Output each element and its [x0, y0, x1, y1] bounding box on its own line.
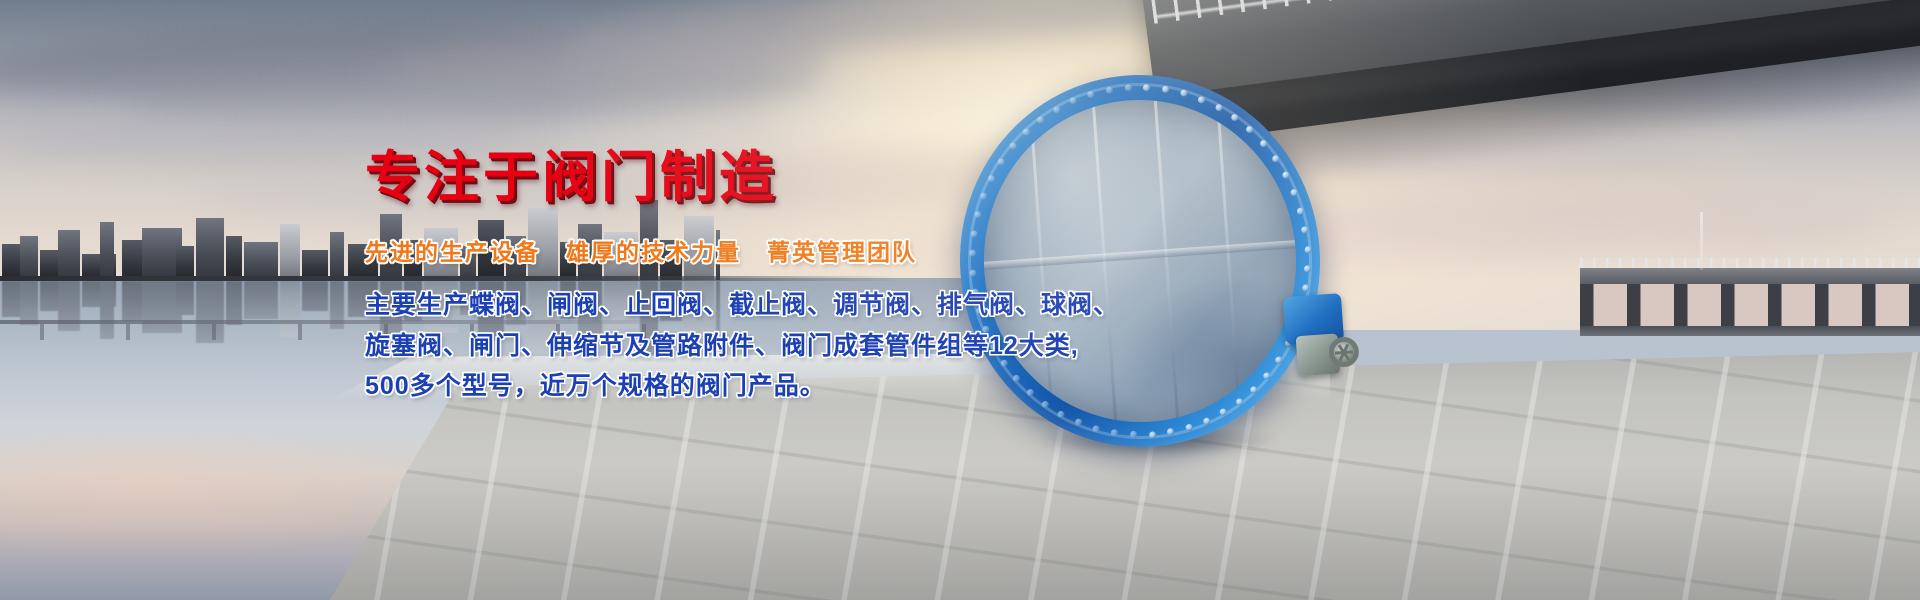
- promotional-banner: 专注于阀门制造 先进的生产设备雄厚的技术力量菁英管理团队 主要生产蝶阀、闸阀、止…: [0, 0, 1920, 600]
- building: [196, 281, 224, 343]
- building: [244, 281, 278, 319]
- building: [20, 281, 38, 325]
- building: [196, 218, 224, 280]
- body-line-2: 旋塞阀、闸门、伸缩节及管路附件、阀门成套管件组等12大类,: [365, 326, 1085, 367]
- body-line-3: 500多个型号，近万个规格的阀门产品。: [365, 366, 1085, 407]
- valve-bolt-hole: [1092, 425, 1099, 432]
- building: [330, 232, 344, 280]
- bridge-pier: [212, 324, 216, 340]
- antenna-mast: [1700, 212, 1703, 270]
- building: [176, 246, 194, 280]
- building: [280, 281, 300, 337]
- banner-body: 主要生产蝶阀、闸阀、止回阀、截止阀、调节阀、排气阀、球阀、 旋塞阀、闸门、伸缩节…: [365, 285, 1085, 407]
- building: [226, 281, 242, 325]
- bridge-pier: [40, 324, 44, 340]
- banner-subtitle: 先进的生产设备雄厚的技术力量菁英管理团队: [365, 233, 1085, 267]
- valve-bolt-hole: [1053, 106, 1060, 113]
- bridge-pier: [298, 324, 302, 340]
- viaduct-deck: [1580, 268, 1920, 284]
- banner-copy: 专注于阀门制造 先进的生产设备雄厚的技术力量菁英管理团队 主要生产蝶阀、闸阀、止…: [365, 150, 1085, 407]
- building: [302, 281, 328, 311]
- building: [100, 281, 114, 339]
- viaduct-base: [1580, 326, 1920, 336]
- building: [280, 224, 300, 280]
- valve-bolt-hole: [1148, 431, 1155, 438]
- valve-bolt-hole: [1250, 386, 1257, 393]
- valve-bolt-hole: [1236, 398, 1243, 405]
- valve-bolt-hole: [1162, 85, 1169, 92]
- building: [244, 242, 278, 280]
- valve-bolt-hole: [1272, 155, 1279, 162]
- subtitle-item-2: 雄厚的技术力量: [566, 239, 741, 265]
- body-line-1: 主要生产蝶阀、闸阀、止回阀、截止阀、调节阀、排气阀、球阀、: [365, 285, 1085, 326]
- building: [58, 230, 80, 280]
- building: [20, 236, 38, 280]
- building: [226, 236, 242, 280]
- banner-headline: 专注于阀门制造: [365, 150, 1085, 205]
- subtitle-item-3: 菁英管理团队: [767, 239, 917, 265]
- valve-bolt-hole: [1124, 84, 1131, 91]
- bridge-pier: [126, 324, 130, 340]
- building: [100, 222, 114, 280]
- valve-bolt-hole: [1105, 86, 1112, 93]
- valve-bolt-hole: [1304, 246, 1311, 253]
- subtitle-item-1: 先进的生产设备: [365, 239, 540, 265]
- building: [176, 281, 194, 315]
- viaduct-piers: [1580, 284, 1920, 328]
- valve-bolt-hole: [1203, 417, 1210, 424]
